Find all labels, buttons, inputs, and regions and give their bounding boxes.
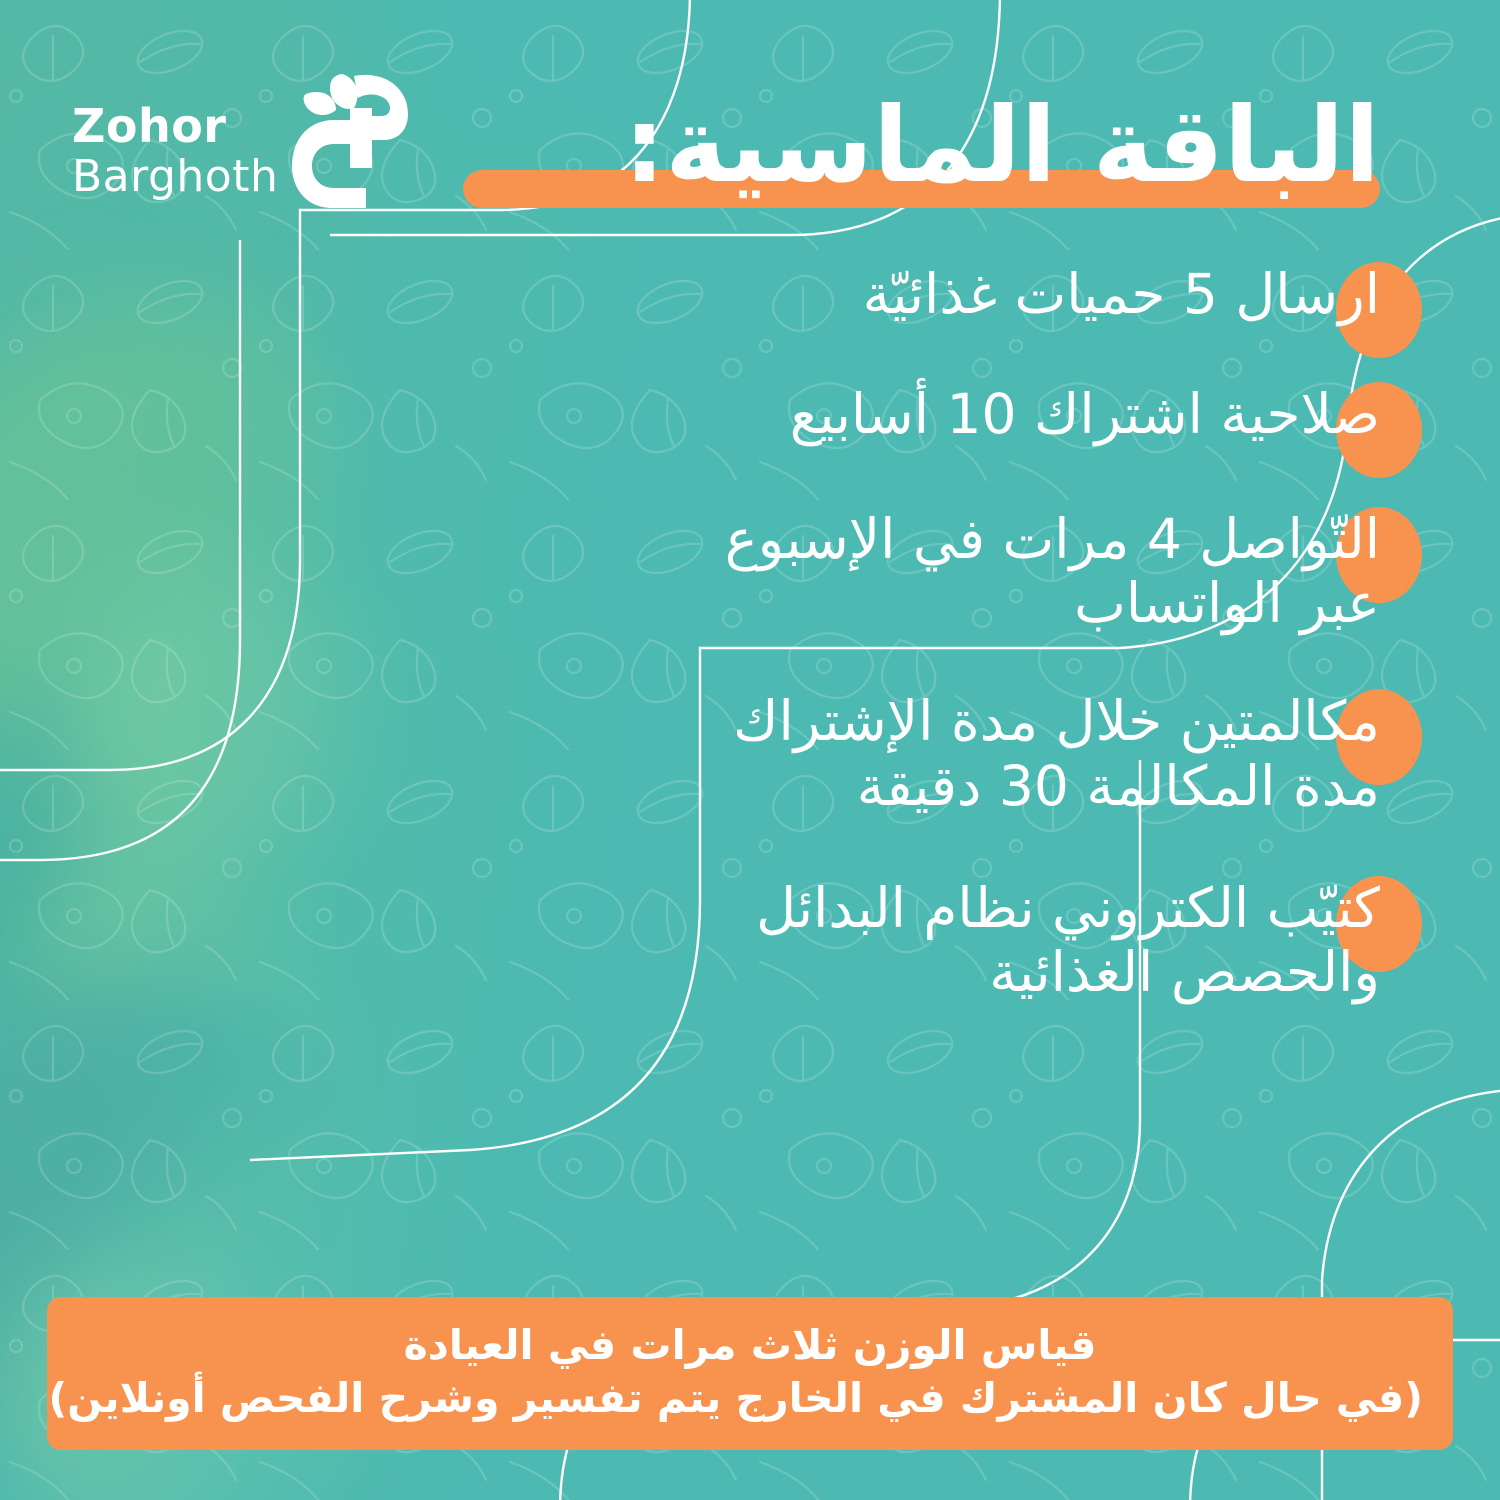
- page-title: الباقة الماسية:: [420, 60, 1380, 230]
- list-item-line: مكالمتين خلال مدة الإشتراك: [230, 689, 1380, 753]
- logo-name-secondary: Barghoth: [72, 155, 278, 199]
- footer-banner: قياس الوزن ثلاث مرات في العيادة (في حال …: [47, 1297, 1453, 1450]
- list-item-line: مدة المكالمة 30 دقيقة: [230, 754, 1380, 818]
- list-item: كتيّب الكتروني نظام البدائل والحصص الغذا…: [230, 876, 1380, 1005]
- logo-name-primary: Zohor: [72, 103, 278, 149]
- brand-logo: Zohor Barghoth: [72, 68, 410, 208]
- list-item: ارسال 5 حميات غذائيّة: [230, 262, 1380, 326]
- feature-list: ارسال 5 حميات غذائيّة صلاحية اشتراك 10 أ…: [230, 262, 1380, 1005]
- page-title-text: الباقة الماسية:: [420, 93, 1380, 197]
- list-item-line: ارسال 5 حميات غذائيّة: [230, 262, 1380, 326]
- footer-line-1: قياس الوزن ثلاث مرات في العيادة: [77, 1319, 1423, 1371]
- list-item-line: والحصص الغذائية: [230, 940, 1380, 1004]
- leaf-monogram-icon: [292, 68, 410, 208]
- list-item: مكالمتين خلال مدة الإشتراك مدة المكالمة …: [230, 689, 1380, 818]
- list-item: التّواصل 4 مرات في الإسبوع عبر الواتساب: [230, 507, 1380, 636]
- promo-poster: Zohor Barghoth الباقة الماسية: ارسال 5 ح…: [0, 0, 1500, 1500]
- list-item-line: التّواصل 4 مرات في الإسبوع: [230, 507, 1380, 571]
- list-item-line: كتيّب الكتروني نظام البدائل: [230, 876, 1380, 940]
- list-item-line: عبر الواتساب: [230, 571, 1380, 635]
- footer-line-2: (في حال كان المشترك في الخارج يتم تفسير …: [77, 1372, 1423, 1424]
- list-item-line: صلاحية اشتراك 10 أسابيع: [230, 382, 1380, 446]
- list-item: صلاحية اشتراك 10 أسابيع: [230, 382, 1380, 446]
